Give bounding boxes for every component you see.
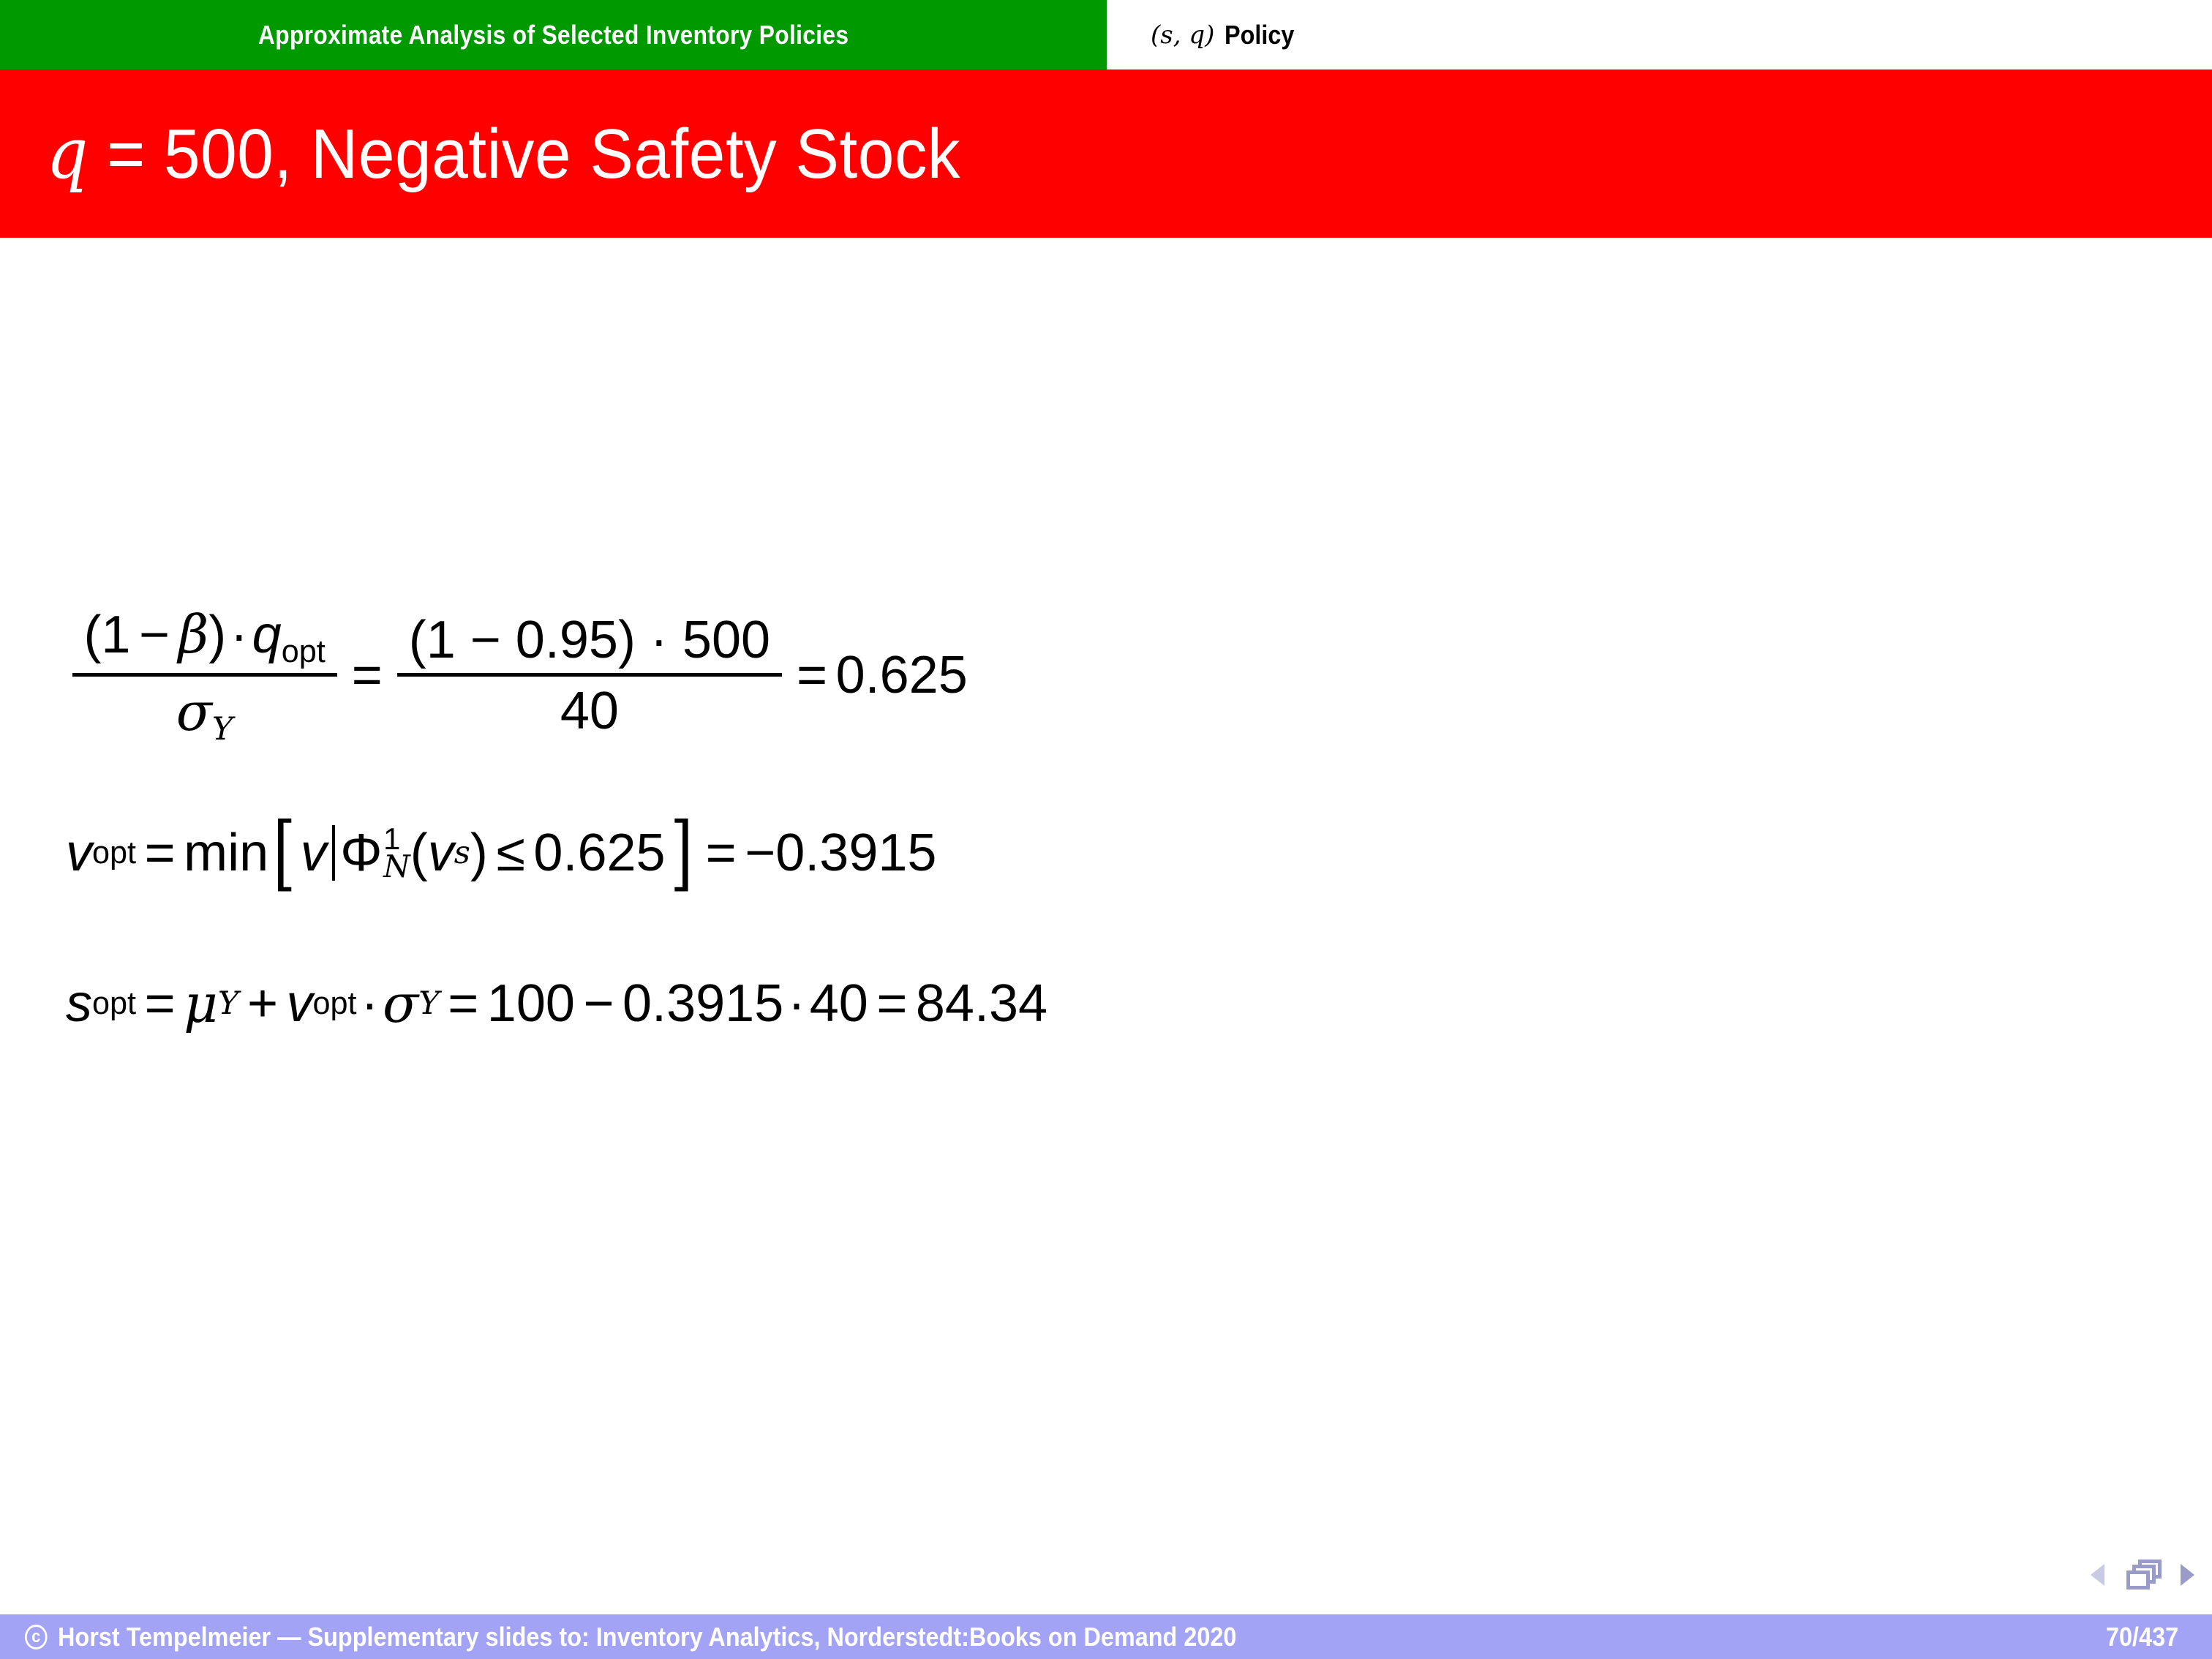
eq2-arg-v: v [428, 823, 454, 883]
eq2-arg-close-paren: ) [470, 823, 488, 883]
page-title: q = 500, Negative Safety Stock [0, 113, 960, 195]
eq3-sigma: σ [383, 973, 418, 1034]
eq3-relation-1: = [145, 974, 176, 1034]
page-title-rest: = 500, Negative Safety Stock [89, 115, 960, 193]
equation-1-relation-1: = [352, 645, 383, 705]
eq3-expression-a: 100 [487, 974, 575, 1034]
eq1-num-close: ) [208, 606, 226, 664]
eq3-s-subscript: opt [92, 986, 136, 1022]
next-slide-icon[interactable] [2181, 1564, 2194, 1586]
eq2-relation-2: = [706, 823, 737, 883]
eq3-expression-b: 0.3915 [622, 974, 783, 1034]
eq2-v-subscript: opt [92, 835, 136, 871]
eq2-argument-v: v [301, 823, 327, 883]
eq2-close-bracket: ] [670, 829, 693, 878]
eq2-result: −0.3915 [745, 823, 936, 883]
eq3-sigma-subscript: Y [418, 985, 440, 1022]
eq1-num-q-subscript: opt [282, 634, 326, 670]
equation-1-lhs-denominator: σY [165, 677, 244, 748]
eq3-v: v [287, 974, 313, 1034]
equation-1-lhs-fraction: (1−β)·qopt σY [72, 603, 337, 748]
eq3-minus-operator: − [583, 974, 614, 1034]
eq2-arg-v-subscript: s [454, 835, 470, 871]
header-subsection-label: Policy [1224, 20, 1294, 50]
header-section-tab[interactable]: Approximate Analysis of Selected Invento… [0, 0, 1107, 69]
equation-1-rhs-fraction: (1 − 0.95) · 500 40 [397, 610, 782, 741]
eq3-dot-operator-2: · [788, 974, 805, 1034]
eq3-mu-subscript: Y [218, 985, 239, 1022]
eq1-num-minus: − [139, 606, 170, 664]
beamer-navigation-symbols[interactable] [2091, 1557, 2194, 1593]
eq2-open-bracket: [ [273, 829, 296, 878]
eq1-num-dot: · [230, 606, 248, 664]
eq3-v-subscript: opt [313, 986, 357, 1022]
eq2-phi: Φ [340, 823, 382, 883]
equation-1: (1−β)·qopt σY = (1 − 0.95) · 500 40 = 0.… [66, 603, 968, 748]
footer-credit: cHorst Tempelmeier — Supplementary slide… [25, 1622, 1236, 1652]
equation-1-lhs-numerator: (1−β)·qopt [72, 603, 337, 673]
eq1-num-beta: β [178, 603, 209, 665]
header-subsection-tab[interactable]: (s, q) Policy [1107, 0, 2212, 69]
previous-slide-icon[interactable] [2091, 1564, 2104, 1586]
eq1-den-sigma: σ [176, 681, 212, 742]
copyright-icon: c [25, 1625, 48, 1649]
eq1-num-open: (1 [83, 606, 130, 664]
slide-content: (1−β)·qopt σY = (1 − 0.95) · 500 40 = 0.… [0, 238, 2212, 1536]
footer-bar: cHorst Tempelmeier — Supplementary slide… [0, 1614, 2212, 1659]
eq2-arg-open-paren: ( [410, 823, 428, 883]
equation-1-result: 0.625 [836, 645, 968, 705]
eq3-dot-operator: · [361, 974, 378, 1034]
eq2-threshold: 0.625 [533, 823, 665, 883]
eq2-leq-operator: ≤ [496, 823, 525, 883]
equation-1-rhs-numerator: (1 − 0.95) · 500 [397, 610, 782, 673]
frames-stack-icon[interactable] [2123, 1560, 2162, 1590]
eq1-den-sigma-subscript: Y [212, 711, 233, 748]
frame-title-bar: q = 500, Negative Safety Stock [0, 69, 2212, 238]
eq3-mu: μ [184, 973, 218, 1034]
eq2-phi-scripts: 1N [383, 825, 410, 881]
header-subsection-math: (s, q) [1151, 20, 1214, 50]
eq2-v: v [66, 823, 92, 883]
eq2-conditional-bar [332, 825, 335, 881]
equation-1-rhs-denominator: 40 [549, 677, 631, 741]
footer-credit-text: Horst Tempelmeier — Supplementary slides… [58, 1622, 1236, 1652]
eq2-relation-1: = [145, 823, 176, 883]
eq1-num-q: q [252, 606, 282, 664]
header-section-label: Approximate Analysis of Selected Invento… [258, 20, 849, 50]
eq3-result: 84.34 [916, 974, 1047, 1034]
eq3-plus-operator: + [247, 974, 278, 1034]
eq3-relation-2: = [448, 974, 478, 1034]
eq2-phi-subscript: N [383, 853, 410, 881]
eq2-min-operator: min [184, 823, 268, 883]
page-title-variable: q [46, 113, 89, 195]
frame-layer-front [2126, 1570, 2150, 1590]
eq3-s: s [66, 974, 92, 1034]
equation-2: vopt = min [ v Φ1N(vs) ≤ 0.625] = −0.391… [66, 823, 936, 883]
equation-1-relation-2: = [797, 645, 827, 705]
header-navigation-bar: Approximate Analysis of Selected Invento… [0, 0, 2212, 69]
eq3-relation-3: = [876, 974, 907, 1034]
page-number: 70/437 [2106, 1622, 2178, 1652]
eq3-expression-c: 40 [810, 974, 868, 1034]
equation-3: sopt = μY + vopt · σY = 100 − 0.3915 · 4… [66, 973, 1047, 1034]
